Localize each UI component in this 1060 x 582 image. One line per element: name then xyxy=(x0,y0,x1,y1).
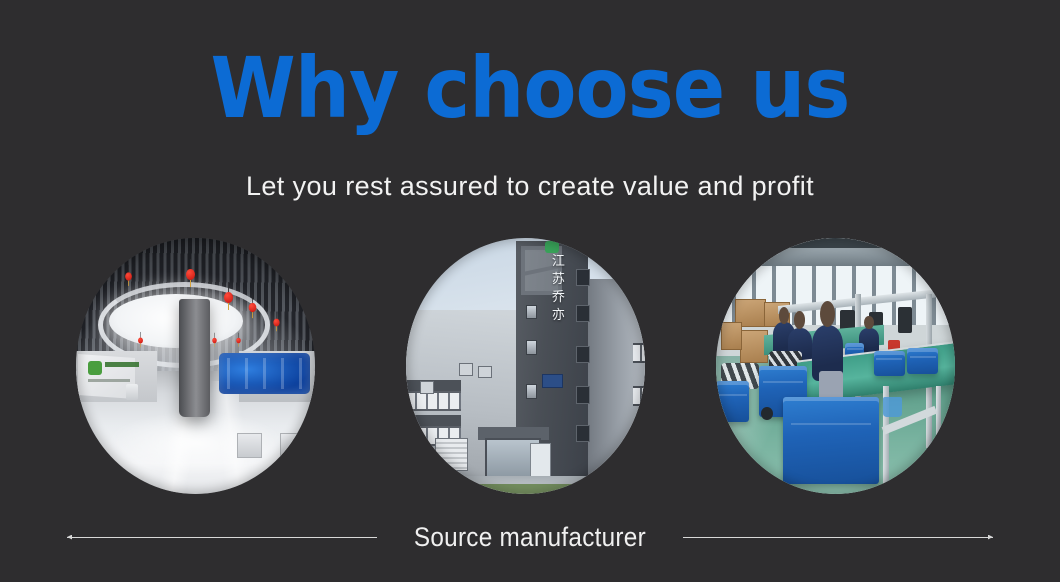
showroom-scene xyxy=(76,238,315,494)
workshop-scene xyxy=(716,238,955,494)
cardboard-box xyxy=(721,322,742,350)
corner-window xyxy=(576,425,590,442)
sign-char-4: 亦 xyxy=(549,307,567,325)
blue-crate xyxy=(716,381,749,422)
air-conditioner-unit xyxy=(420,381,434,393)
blue-basket xyxy=(883,397,902,417)
tower-window xyxy=(526,305,538,320)
photo-production-line-workshop xyxy=(716,238,955,494)
address-plate xyxy=(542,374,563,389)
side-door xyxy=(530,443,551,479)
right-building-wing xyxy=(583,279,645,494)
divider-line-left xyxy=(67,537,377,538)
window-row xyxy=(406,391,461,412)
bench-leg xyxy=(936,386,941,483)
red-lantern-icon xyxy=(186,269,195,280)
photo-showroom-interior xyxy=(76,238,315,494)
tower-window xyxy=(526,384,538,399)
corner-window xyxy=(576,269,590,286)
red-lantern-icon xyxy=(138,338,143,344)
central-column xyxy=(179,299,210,417)
blue-crate-foreground xyxy=(783,397,879,484)
air-conditioner-unit xyxy=(478,366,492,378)
photo-gallery: 江 苏 乔 亦 xyxy=(0,238,1060,494)
facade-band xyxy=(406,415,461,426)
page-subtitle: Let you rest assured to create value and… xyxy=(0,166,1060,206)
window-row xyxy=(633,429,645,448)
why-choose-us-banner: Why choose us Let you rest assured to cr… xyxy=(0,0,1060,582)
parked-car xyxy=(411,458,444,476)
footer-tagline: Source manufacturer xyxy=(0,512,1060,562)
company-logo-subtext xyxy=(88,379,130,382)
company-logo-text xyxy=(105,362,139,367)
blue-display-panel xyxy=(219,353,310,394)
blue-crate xyxy=(874,351,905,377)
sign-char-2: 苏 xyxy=(549,271,567,289)
sign-char-3: 乔 xyxy=(549,289,567,307)
grass-strip xyxy=(444,484,587,494)
company-logo-mark-icon xyxy=(88,361,102,375)
divider-line-right xyxy=(683,537,993,538)
ceiling-light-oval xyxy=(109,294,243,348)
red-lantern-icon xyxy=(125,273,132,281)
red-lantern-icon xyxy=(224,292,233,303)
window-row xyxy=(633,343,645,362)
workstation-equipment xyxy=(898,307,912,333)
window-row xyxy=(633,386,645,405)
building-sign: 江 苏 乔 亦 xyxy=(549,253,567,325)
building-logo-icon xyxy=(545,241,559,253)
corner-window xyxy=(576,305,590,322)
photo-factory-building-exterior: 江 苏 乔 亦 xyxy=(406,238,645,494)
red-lantern-icon xyxy=(236,338,241,344)
corner-window xyxy=(576,386,590,403)
floor-panel-box xyxy=(237,433,263,458)
air-conditioner-unit xyxy=(459,363,473,375)
blue-crate xyxy=(907,348,938,374)
floor-panel-box xyxy=(280,433,306,458)
roof-beam xyxy=(716,248,955,266)
corner-window xyxy=(576,346,590,363)
page-title: Why choose us xyxy=(42,40,1017,136)
tower-window xyxy=(526,340,538,355)
building-scene: 江 苏 乔 亦 xyxy=(406,238,645,494)
sign-char-1: 江 xyxy=(549,253,567,271)
footer-label: Source manufacturer xyxy=(392,522,667,553)
trash-bin xyxy=(126,384,138,400)
